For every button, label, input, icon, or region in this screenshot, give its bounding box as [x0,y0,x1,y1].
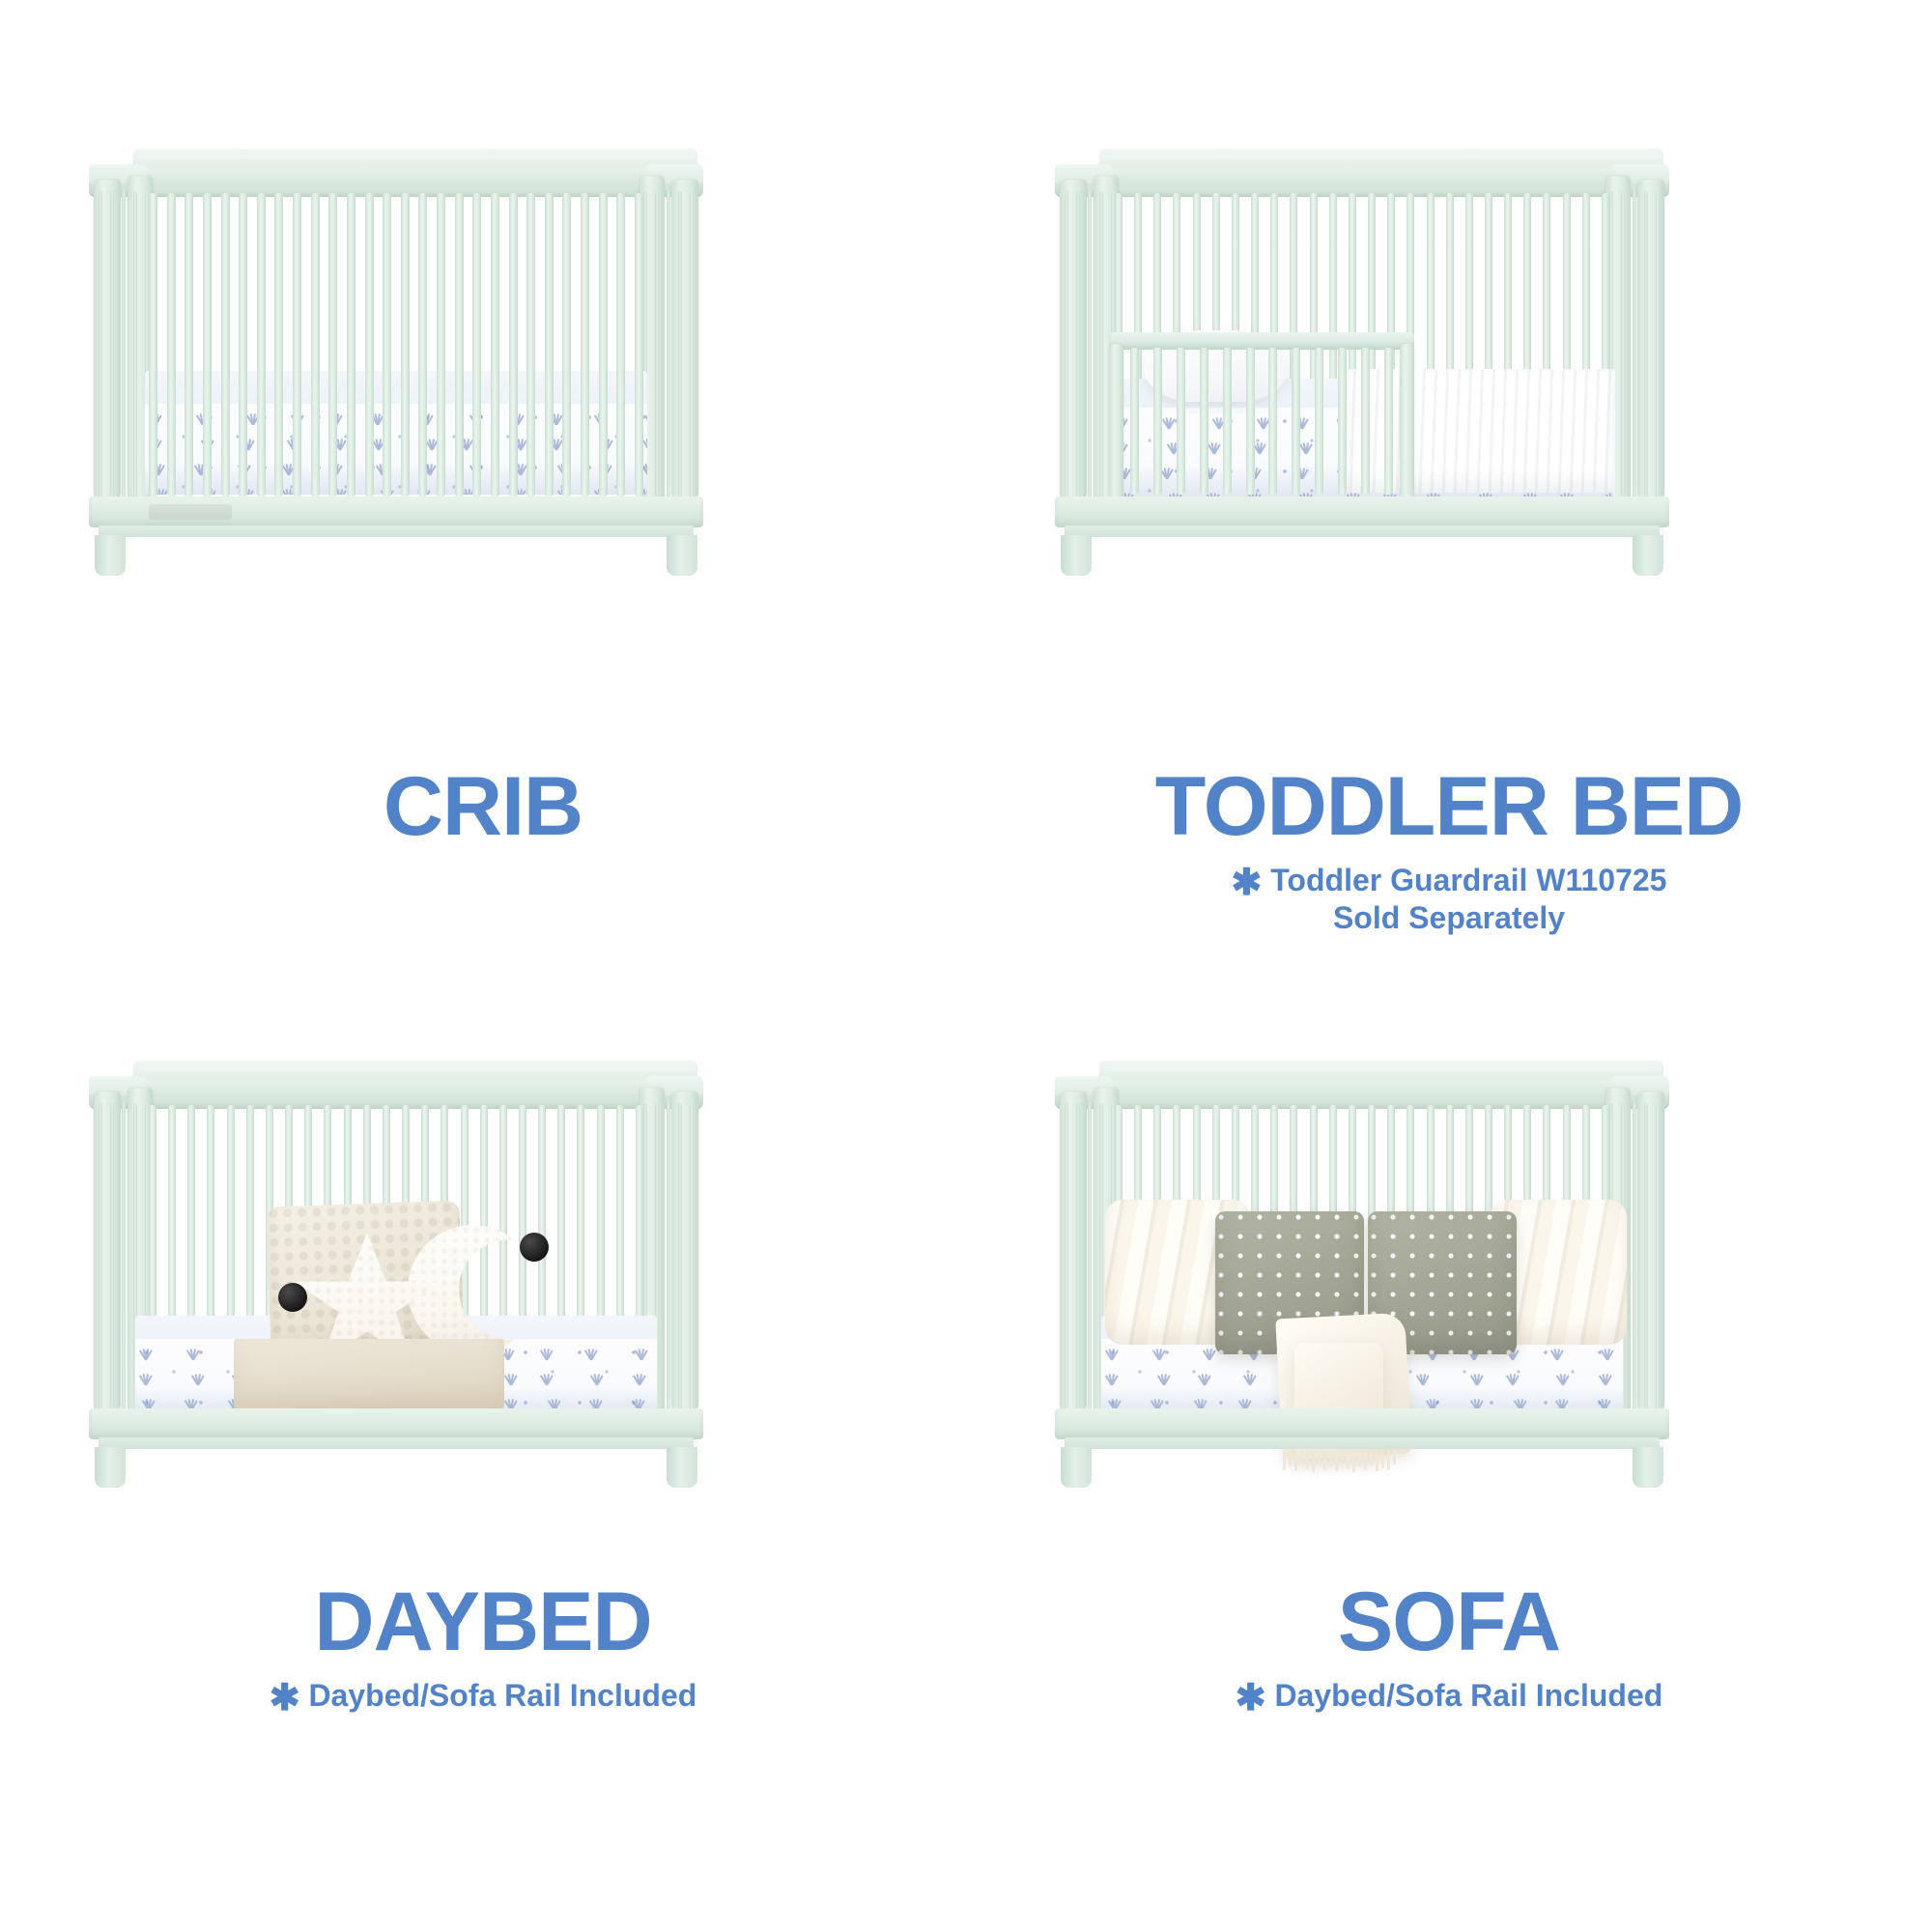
daybed-rail-note: Daybed/Sofa Rail Included [308,1678,696,1713]
guardrail-post-left [1109,344,1123,498]
sf-leg-left [1061,1447,1092,1488]
crib-leg-right [667,535,697,576]
db-moon-pom-icon [520,1233,549,1262]
caption-crib: CRIB [0,765,966,848]
guardrail-post-right [1400,344,1414,498]
infographic-canvas: CRIB [0,0,1932,1932]
panel-note-daybed: ✱ Daybed/Sofa Rail Included [0,1677,966,1715]
panel-toddler-bed: TODDLER BED ✱ Toddler Guardrail W110725 … [966,0,1932,1005]
asterisk-icon: ✱ [1236,1678,1266,1719]
daybed-rail [89,1408,703,1439]
guardrail-slats [1130,348,1393,495]
guardrail-note-line2: Sold Separately [1333,900,1565,935]
sofa-rail-note: Daybed/Sofa Rail Included [1274,1678,1662,1713]
crib-back-top-rail [133,149,697,170]
panel-crib: CRIB [0,0,966,1005]
tb-leg-right [1633,535,1663,576]
sf-throw-fringe [1283,1451,1399,1472]
tb-base-rail [1055,497,1669,527]
toddler-bed-illustration [1055,141,1669,576]
daybed-illustration [89,1053,703,1488]
caption-toddler-bed: TODDLER BED ✱ Toddler Guardrail W110725 … [966,765,1932,937]
panel-note-sofa: ✱ Daybed/Sofa Rail Included [966,1677,1932,1715]
panel-title-crib: CRIB [0,765,966,848]
db-back-top-rail [133,1061,697,1082]
db-linen-mattress-pad [234,1339,504,1408]
brand-logo-plate [149,504,232,520]
tb-back-top-rail [1099,149,1663,170]
crib-lower-base-rail [99,526,694,537]
panel-daybed: DAYBED ✱ Daybed/Sofa Rail Included [0,1005,966,1932]
crib-front-slats [149,193,643,497]
tb-lower-base-rail [1065,526,1660,537]
tb-leg-left [1061,535,1092,576]
panel-title-sofa: SOFA [966,1580,1932,1663]
panel-sofa: SOFA ✱ Daybed/Sofa Rail Included [966,1005,1932,1932]
sofa-rail [1055,1408,1669,1439]
asterisk-icon: ✱ [1232,863,1263,903]
panel-grid: CRIB [0,0,1932,1932]
sf-back-top-rail [1099,1061,1663,1082]
guardrail-note-line1: Toddler Guardrail W110725 [1270,863,1666,897]
db-leg-left [95,1447,126,1488]
tb-right-end-slats [1609,191,1660,498]
crib-right-end-slats [643,191,694,498]
crib-left-end-slats [99,191,149,498]
caption-sofa: SOFA ✱ Daybed/Sofa Rail Included [966,1580,1932,1715]
sf-leg-right [1633,1447,1663,1488]
sf-lower-base-rail [1065,1437,1660,1449]
panel-title-daybed: DAYBED [0,1580,966,1663]
panel-note-toddler-bed: ✱ Toddler Guardrail W110725 Sold Separat… [966,862,1932,937]
toddler-guardrail [1109,332,1414,498]
panel-title-toddler-bed: TODDLER BED [966,765,1932,848]
db-leg-right [667,1447,697,1488]
crib-leg-left [95,535,126,576]
db-star-pom-icon [278,1283,307,1312]
crib-illustration [89,141,703,576]
tb-left-end-slats [1065,191,1115,498]
sofa-illustration [1055,1053,1669,1488]
asterisk-icon: ✱ [270,1678,300,1719]
db-lower-base-rail [99,1437,694,1449]
caption-daybed: DAYBED ✱ Daybed/Sofa Rail Included [0,1580,966,1715]
